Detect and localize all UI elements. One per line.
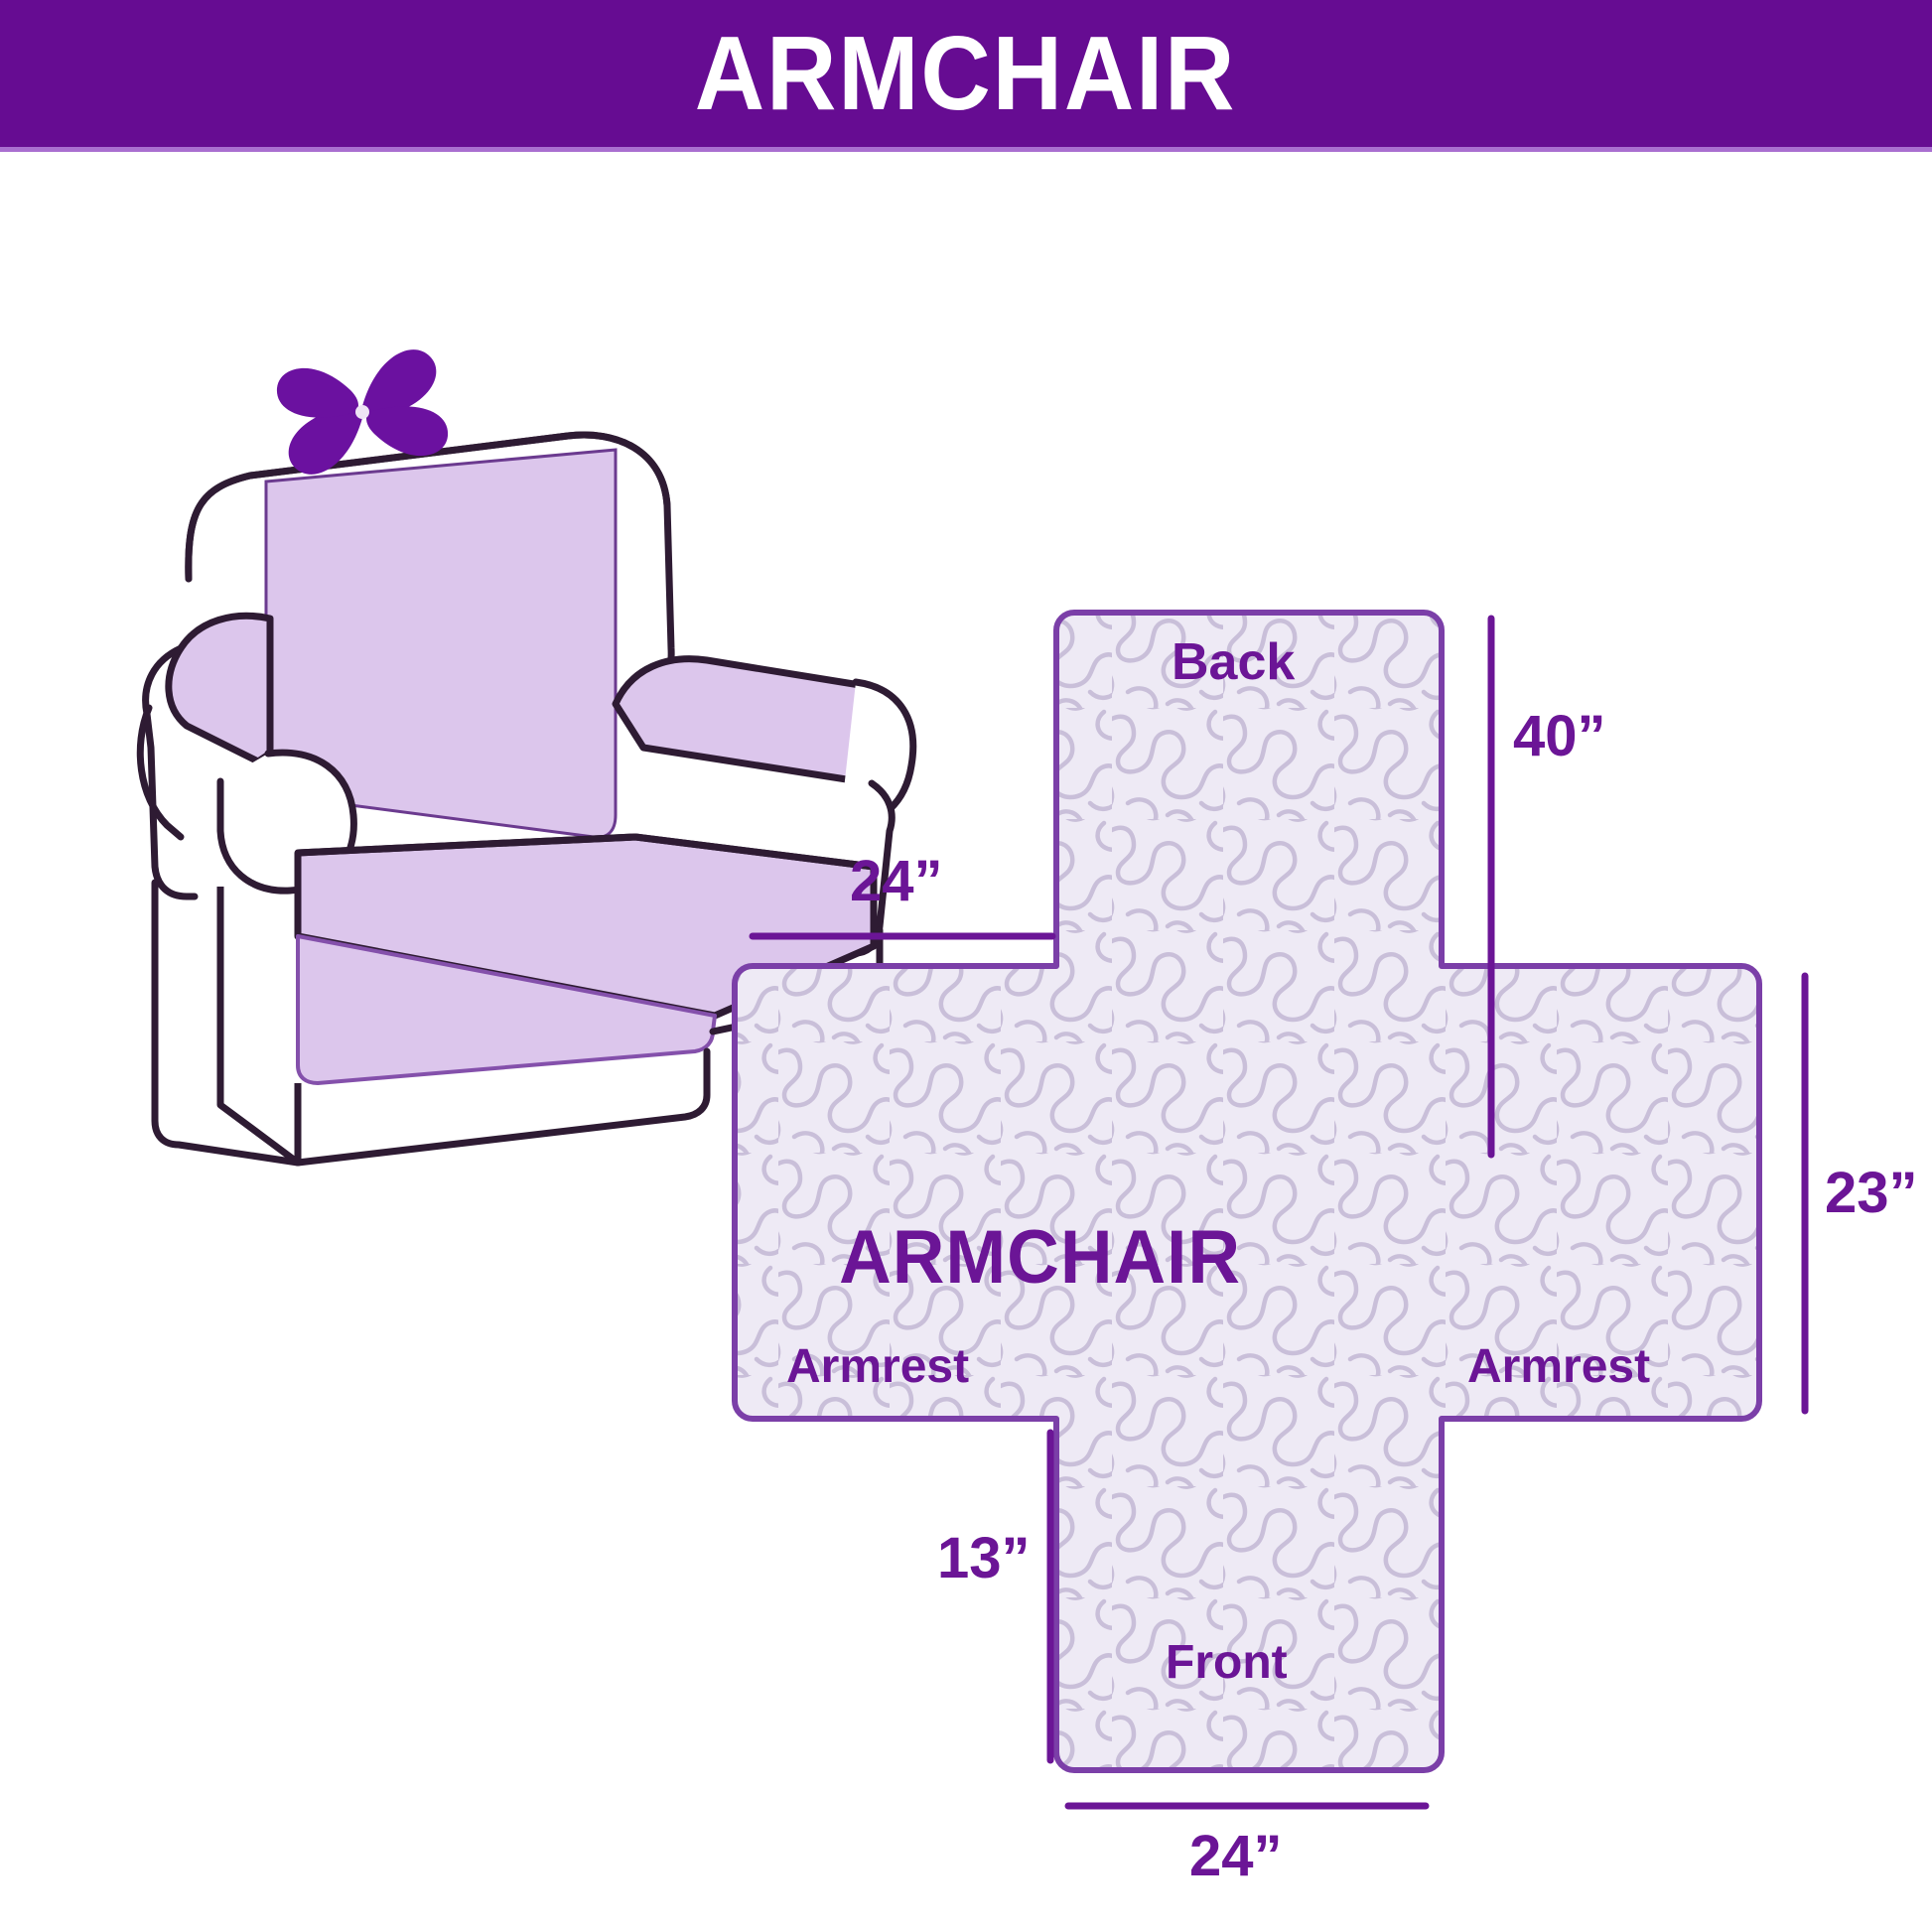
panel-label-armrest-left: Armrest: [786, 1343, 969, 1391]
diagram-canvas: Back ARMCHAIR Armrest Armrest Front 40” …: [0, 152, 1932, 1932]
dimension-label-24in-top: 24”: [850, 853, 943, 910]
page-title: ARMCHAIR: [695, 21, 1237, 126]
dimension-label-24in-bottom: 24”: [1189, 1828, 1283, 1885]
cover-center-label: ARMCHAIR: [839, 1220, 1241, 1296]
dimension-label-40in: 40”: [1513, 708, 1606, 765]
panel-label-front: Front: [1166, 1639, 1288, 1687]
header-banner: ARMCHAIR: [0, 0, 1932, 147]
diagram-svg: [0, 152, 1932, 1932]
panel-label-armrest-right: Armrest: [1467, 1343, 1650, 1391]
dimension-label-23in: 23”: [1825, 1165, 1918, 1222]
panel-label-back: Back: [1172, 636, 1295, 688]
dimension-label-13in: 13”: [937, 1530, 1031, 1587]
pinwheel-fan-logo: [277, 349, 448, 475]
